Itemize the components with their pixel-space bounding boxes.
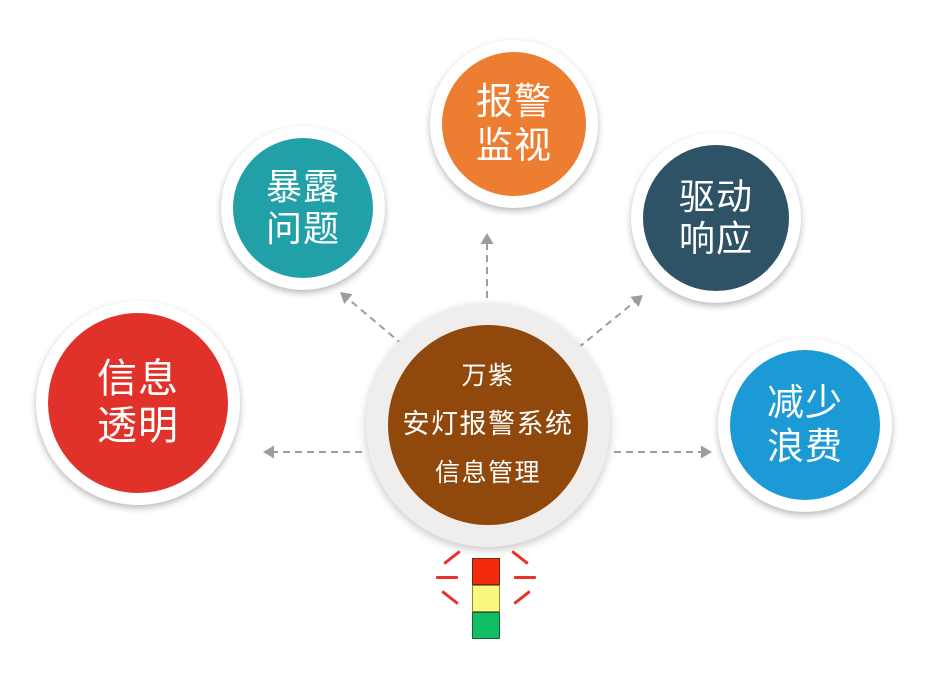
center-line-main: 安灯报警系统 (403, 409, 574, 441)
center-line-top: 万紫 (403, 362, 574, 392)
node-information-transparency[interactable]: 信息透明 (36, 301, 240, 505)
arrow-to-reduce-waste-head (701, 446, 712, 459)
lamp-red (472, 558, 500, 585)
node-label-line-2: 问题 (266, 208, 340, 250)
node-reduce-waste[interactable]: 减少浪费 (718, 338, 892, 512)
node-label: 报警监视 (476, 80, 552, 167)
node-label-line-2: 响应 (679, 218, 753, 260)
node-drive-response[interactable]: 驱动响应 (631, 133, 801, 303)
arrow-to-expose-problems (340, 292, 403, 345)
arrow-to-expose-problems-line (348, 299, 403, 345)
node-andon-alarm-system-core[interactable]: 万紫安灯报警系统信息管理 (366, 303, 610, 547)
diagram-canvas: 报警监视暴露问题驱动响应信息透明减少浪费万紫安灯报警系统信息管理 (0, 0, 939, 680)
arrow-to-drive-response-line (578, 302, 634, 348)
node-label: 万紫安灯报警系统信息管理 (403, 362, 574, 489)
node-alarm-monitoring[interactable]: 报警监视 (430, 40, 598, 208)
node-label-line-2: 监视 (476, 124, 552, 168)
lamp-yellow (472, 585, 500, 612)
node-label-line-1: 报警 (476, 80, 552, 124)
andon-ray-1 (443, 550, 461, 565)
arrow-to-alarm-monitoring-head (481, 233, 494, 244)
lamp-green (472, 612, 500, 639)
andon-ray-5 (514, 576, 536, 579)
arrow-to-reduce-waste (614, 446, 712, 459)
andon-ray-4 (511, 550, 529, 565)
andon-light-tower (472, 558, 500, 640)
arrow-to-information-transparency (263, 446, 362, 459)
center-line-bottom: 信息管理 (403, 459, 574, 489)
node-label-line-1: 驱动 (679, 176, 753, 218)
node-label-line-1: 信息 (97, 356, 179, 403)
andon-ray-3 (441, 590, 459, 605)
node-label: 暴露问题 (266, 166, 340, 251)
andon-ray-2 (436, 576, 458, 579)
arrow-to-information-transparency-head (263, 446, 274, 459)
andon-ray-6 (513, 590, 531, 605)
node-label-line-1: 减少 (767, 381, 843, 425)
arrow-to-expose-problems-head (340, 292, 353, 304)
node-label-line-2: 浪费 (767, 425, 843, 469)
node-label-line-2: 透明 (97, 403, 179, 450)
node-label: 信息透明 (97, 356, 179, 450)
node-label: 减少浪费 (767, 381, 843, 468)
node-label-line-1: 暴露 (266, 166, 340, 208)
arrow-to-drive-response-head (630, 295, 643, 307)
node-label: 驱动响应 (679, 176, 753, 261)
node-expose-problems[interactable]: 暴露问题 (221, 126, 385, 290)
arrow-to-drive-response (578, 295, 643, 348)
